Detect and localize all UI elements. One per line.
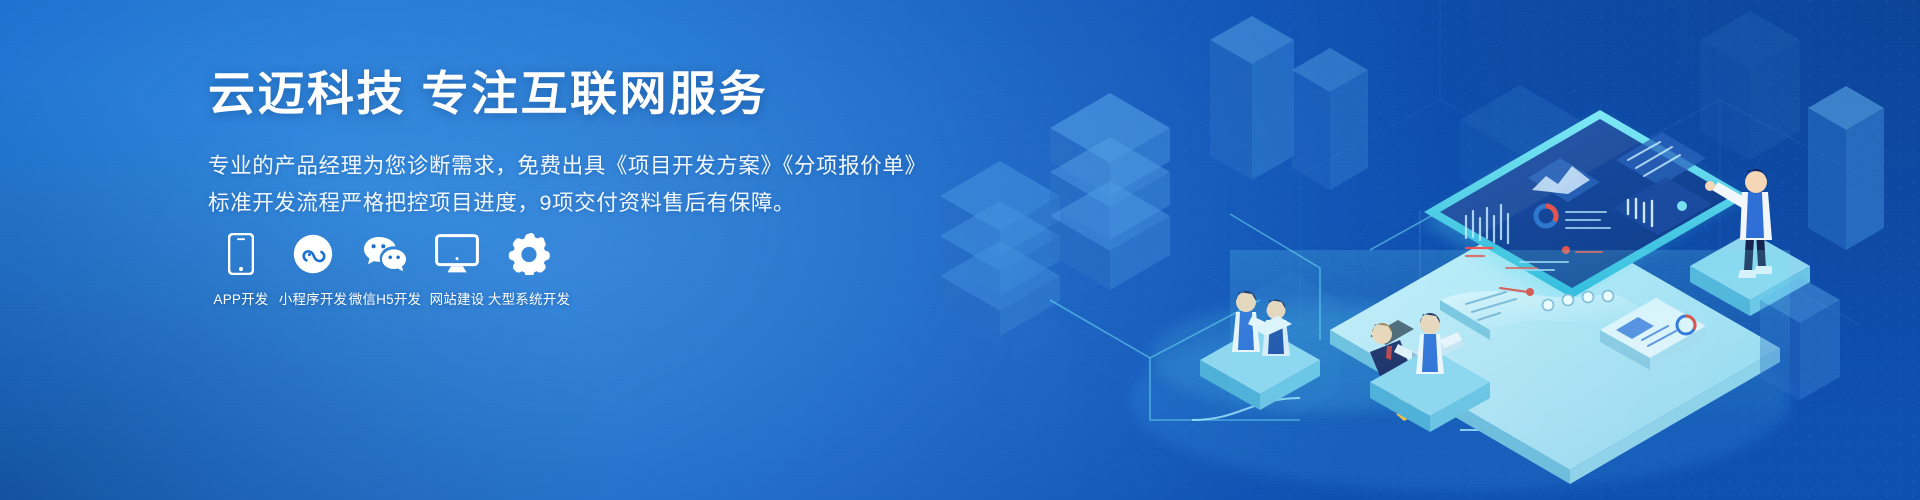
service-item-website[interactable]: 网站建设 [421, 231, 493, 307]
service-item-large-system[interactable]: 大型系统开发 [493, 231, 565, 307]
banner-copy: 云迈科技 专注互联网服务 专业的产品经理为您诊断需求，免费出具《项目开发方案》《… [208, 66, 908, 222]
service-label: 微信H5开发 [349, 293, 421, 307]
subtitle-line-1: 专业的产品经理为您诊断需求，免费出具《项目开发方案》《分项报价单》 [208, 148, 908, 185]
mobile-phone-icon [228, 231, 254, 277]
banner-subtitle: 专业的产品经理为您诊断需求，免费出具《项目开发方案》《分项报价单》 标准开发流程… [208, 148, 908, 222]
service-item-wechat-h5[interactable]: 微信H5开发 [349, 231, 421, 307]
subtitle-line-2: 标准开发流程严格把控项目进度，9项交付资料售后有保障。 [208, 185, 908, 222]
service-list: APP开发 小程序开发 [205, 231, 565, 307]
background-hex-grid [820, 0, 1920, 500]
service-label: APP开发 [213, 293, 268, 307]
service-item-app[interactable]: APP开发 [205, 231, 277, 307]
gear-icon [508, 231, 550, 277]
service-label: 大型系统开发 [488, 293, 570, 307]
service-item-mini-program[interactable]: 小程序开发 [277, 231, 349, 307]
monitor-icon [435, 231, 479, 277]
wechat-bubbles-icon [362, 231, 408, 277]
service-label: 网站建设 [430, 293, 485, 307]
mini-program-icon [293, 231, 333, 277]
service-label: 小程序开发 [279, 293, 348, 307]
isometric-tech-illustration [900, 0, 1920, 500]
page-title: 云迈科技 专注互联网服务 [208, 66, 908, 121]
hero-banner: 云迈科技 专注互联网服务 专业的产品经理为您诊断需求，免费出具《项目开发方案》《… [0, 0, 1920, 500]
